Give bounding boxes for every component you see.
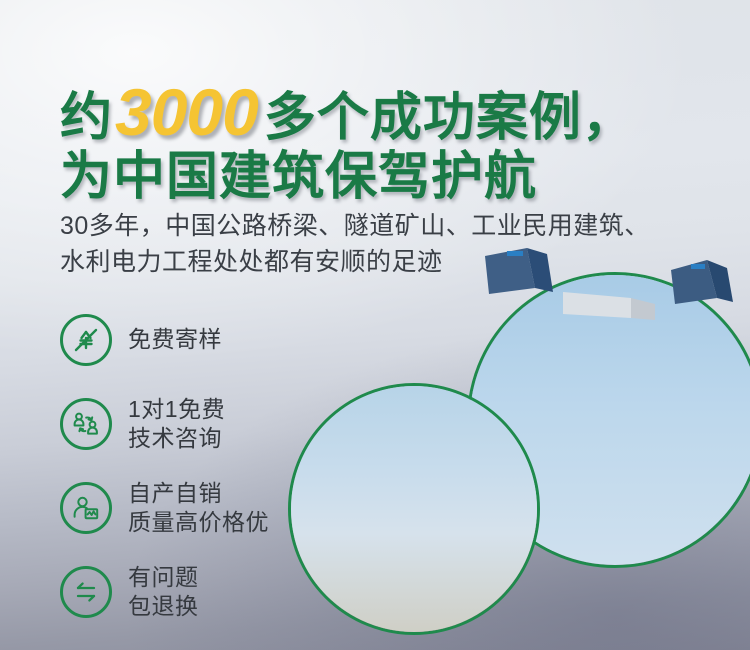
feature-item-self-production-sales[interactable]: 自产自销 质量高价格优	[60, 466, 269, 550]
feature-text-line: 技术咨询	[128, 424, 225, 453]
feature-item-free-sample[interactable]: 免费寄样	[60, 298, 269, 382]
headline: 约3000多个成功案例， 为中国建筑保驾护航	[60, 78, 700, 205]
self-production-sales-icon	[60, 482, 112, 534]
bridge-photo	[288, 383, 540, 635]
feature-text-line: 质量高价格优	[128, 508, 269, 537]
promo-banner: 约3000多个成功案例， 为中国建筑保驾护航 30多年，中国公路桥梁、隧道矿山、…	[0, 0, 750, 650]
feature-item-return-exchange[interactable]: 有问题 包退换	[60, 550, 269, 634]
feature-list: 免费寄样 1对1免费 技术咨询	[60, 298, 269, 634]
bridge-sky	[291, 386, 537, 632]
feature-item-self-production-sales-text: 自产自销 质量高价格优	[128, 479, 269, 538]
subtitle-line-2: 水利电力工程处处都有安顺的足迹	[60, 245, 720, 281]
subtitle: 30多年，中国公路桥梁、隧道矿山、工业民用建筑、 水利电力工程处处都有安顺的足迹	[60, 209, 720, 281]
feature-item-free-sample-text: 免费寄样	[128, 325, 222, 354]
feature-text-line: 自产自销	[128, 479, 269, 508]
feature-item-one-to-one-consult-text: 1对1免费 技术咨询	[128, 395, 225, 454]
headline-line-2: 为中国建筑保驾护航	[60, 150, 700, 205]
feature-item-one-to-one-consult[interactable]: 1对1免费 技术咨询	[60, 382, 269, 466]
feature-item-return-exchange-text: 有问题 包退换	[128, 563, 199, 622]
headline-prefix: 约	[60, 89, 113, 147]
headline-number: 3000	[113, 75, 264, 149]
return-exchange-icon	[60, 566, 112, 618]
headline-suffix: 多个成功案例，	[264, 89, 635, 147]
headline-line-1: 约3000多个成功案例，	[60, 78, 700, 148]
feature-text-line: 免费寄样	[128, 325, 222, 354]
one-to-one-consult-icon	[60, 398, 112, 450]
feature-text-line: 1对1免费	[128, 395, 225, 424]
free-sample-icon	[60, 314, 112, 366]
feature-text-line: 有问题	[128, 563, 199, 592]
feature-text-line: 包退换	[128, 592, 199, 621]
subtitle-line-1: 30多年，中国公路桥梁、隧道矿山、工业民用建筑、	[60, 209, 720, 245]
